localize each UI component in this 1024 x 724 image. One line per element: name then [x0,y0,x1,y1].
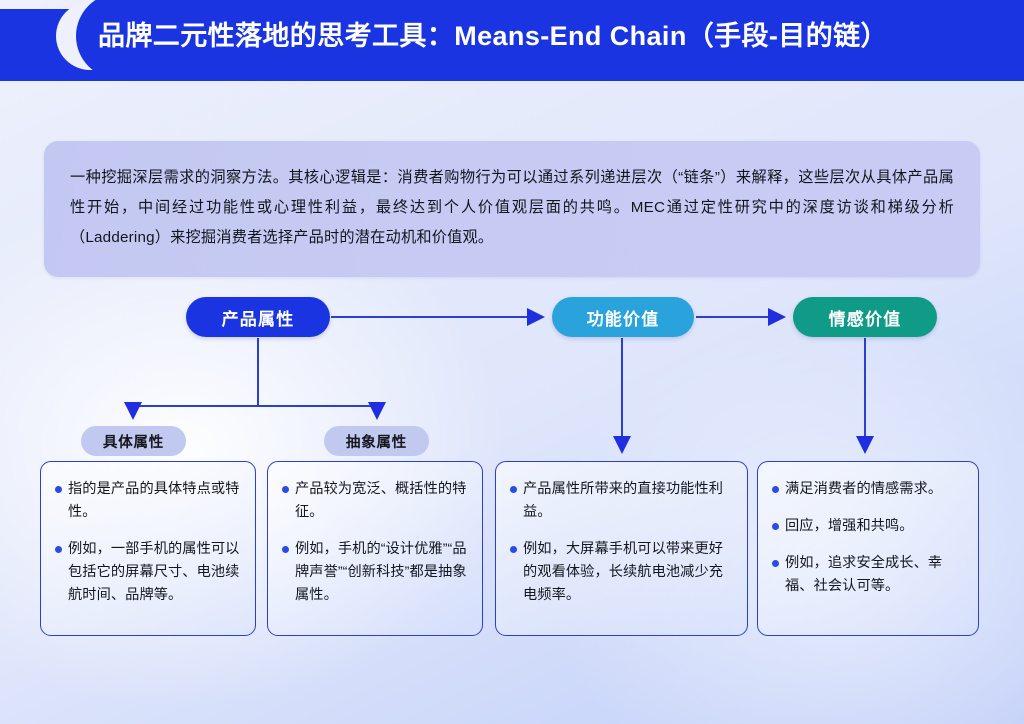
list-item: 产品属性所带来的直接功能性利益。 [510,478,733,524]
list-item: 产品较为宽泛、概括性的特征。 [282,478,468,524]
stage-pill-emotion-label: 情感价值 [829,305,902,330]
header-title-pill: 品牌二元性落地的思考工具：Means-End Chain（手段-目的链） [76,0,1024,79]
list-item: 满足消费者的情感需求。 [772,478,964,501]
sub-pill-abstract[interactable]: 抽象属性 [324,426,429,456]
stage-pill-function-label: 功能价值 [587,305,660,330]
bullet-dot-icon [772,486,779,493]
intro-description-text: 一种挖掘深层需求的洞察方法。其核心逻辑是：消费者购物行为可以通过系列递进层次（“… [70,163,954,253]
list-item: 例如，手机的“设计优雅”“品牌声誉”“创新科技”都是抽象属性。 [282,538,468,607]
bullet-text: 例如，大屏幕手机可以带来更好的观看体验，长续航电池减少充电频率。 [523,538,733,607]
page-title: 品牌二元性落地的思考工具：Means-End Chain（手段-目的链） [76,23,888,50]
list-item: 回应，增强和共鸣。 [772,515,964,538]
list-item: 例如，大屏幕手机可以带来更好的观看体验，长续航电池减少充电频率。 [510,538,733,607]
list-item: 例如，追求安全成长、幸福、社会认可等。 [772,552,964,598]
list-item: 指的是产品的具体特点或特性。 [55,478,241,524]
bullet-dot-icon [55,546,62,553]
bullet-text: 指的是产品的具体特点或特性。 [68,478,241,524]
list-item: 例如，一部手机的属性可以包括它的屏幕尺寸、电池续航时间、品牌等。 [55,538,241,607]
sub-pill-concrete[interactable]: 具体属性 [81,426,186,456]
bullet-text: 满足消费者的情感需求。 [785,478,942,501]
bullet-dot-icon [55,486,62,493]
bullet-text: 产品较为宽泛、概括性的特征。 [295,478,468,524]
sub-pill-abstract-label: 抽象属性 [346,431,407,452]
content-card-emotion: 满足消费者的情感需求。 回应，增强和共鸣。 例如，追求安全成长、幸福、社会认可等… [757,461,979,636]
stage-pill-product[interactable]: 产品属性 [186,297,330,337]
stage-pill-function[interactable]: 功能价值 [552,297,694,337]
bullet-text: 产品属性所带来的直接功能性利益。 [523,478,733,524]
bullet-dot-icon [510,546,517,553]
bullet-dot-icon [282,546,289,553]
slide-canvas: 品牌二元性落地的思考工具：Means-End Chain（手段-目的链） 一种挖… [0,0,1024,724]
bullet-text: 例如，手机的“设计优雅”“品牌声誉”“创新科技”都是抽象属性。 [295,538,468,607]
bullet-text: 回应，增强和共鸣。 [785,515,914,538]
intro-description-card: 一种挖掘深层需求的洞察方法。其核心逻辑是：消费者购物行为可以通过系列递进层次（“… [44,141,980,277]
bullet-dot-icon [282,486,289,493]
stage-pill-product-label: 产品属性 [222,305,295,330]
content-card-concrete: 指的是产品的具体特点或特性。 例如，一部手机的属性可以包括它的屏幕尺寸、电池续航… [40,461,256,636]
stage-pill-emotion[interactable]: 情感价值 [793,297,937,337]
bullet-dot-icon [772,560,779,567]
bullet-text: 例如，追求安全成长、幸福、社会认可等。 [785,552,964,598]
sub-pill-concrete-label: 具体属性 [103,431,164,452]
content-card-abstract: 产品较为宽泛、概括性的特征。 例如，手机的“设计优雅”“品牌声誉”“创新科技”都… [267,461,483,636]
bullet-text: 例如，一部手机的属性可以包括它的屏幕尺寸、电池续航时间、品牌等。 [68,538,241,607]
bullet-dot-icon [510,486,517,493]
content-card-function: 产品属性所带来的直接功能性利益。 例如，大屏幕手机可以带来更好的观看体验，长续航… [495,461,748,636]
bullet-dot-icon [772,523,779,530]
